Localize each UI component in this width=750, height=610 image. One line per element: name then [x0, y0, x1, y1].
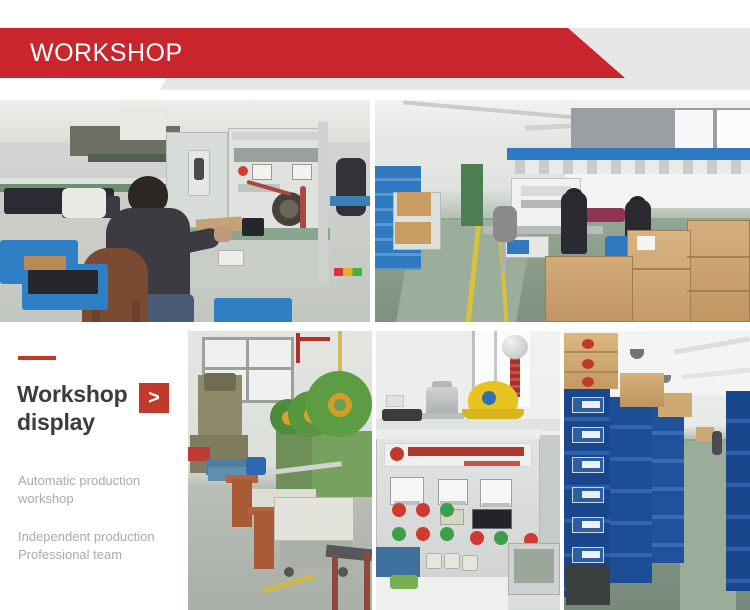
floor-dark-goods — [566, 565, 610, 605]
photo-assembly-line-scene — [375, 100, 750, 322]
bin-label-6 — [582, 551, 600, 558]
blue-parts-bin — [507, 240, 529, 254]
photo-worker-test-bench-scene — [0, 100, 370, 322]
carton-seam-1 — [627, 268, 691, 270]
stool-1 — [232, 479, 252, 527]
panel-gauge-1 — [252, 164, 272, 180]
carton-seam-2 — [564, 371, 618, 373]
right-cabinet — [540, 435, 560, 547]
photo-hv-test-panel-scene — [376, 331, 560, 610]
vertical-rack — [318, 122, 328, 282]
bin-label-2 — [582, 431, 600, 438]
panel-header-strip — [232, 132, 322, 140]
console-maker-text — [464, 461, 520, 466]
console-button-8 — [494, 531, 508, 545]
console-button-1 — [392, 503, 406, 517]
carton-seam-1 — [564, 351, 618, 353]
panel-red-button — [238, 166, 248, 176]
bin-label-3 — [582, 461, 600, 468]
section-heading-line2: display — [17, 409, 95, 435]
console-button-4 — [392, 527, 406, 541]
crate-contents — [28, 270, 98, 294]
white-bag — [62, 188, 106, 218]
cart-wheel-1 — [284, 567, 294, 577]
photo-punch-presses[interactable] — [188, 331, 372, 610]
section-heading-line1: Workshop — [17, 381, 127, 407]
yellow-pipe — [338, 331, 342, 375]
workshop-page: WORKSHOP — [0, 0, 750, 610]
console-button-2 — [416, 503, 430, 517]
carton-seam-3 — [687, 290, 750, 292]
red-post-2 — [364, 551, 370, 610]
console-button-5 — [416, 527, 430, 541]
photo-worker-test-bench[interactable] — [0, 100, 370, 322]
background-bench — [330, 196, 370, 206]
round-cap-3 — [462, 555, 478, 571]
chevron-right-icon[interactable]: > — [139, 383, 169, 413]
right-rack — [726, 391, 750, 591]
window-mullion-h — [202, 367, 294, 370]
red-pipe-horizontal — [296, 337, 330, 341]
carton-logo-1 — [582, 339, 594, 349]
far-worker — [712, 431, 722, 455]
red-cable-b — [300, 186, 306, 230]
black-tool — [382, 409, 422, 421]
wall-paper — [120, 106, 166, 140]
white-workbench-shelf — [565, 174, 750, 208]
safety-helmet-logo — [482, 391, 496, 405]
page-banner: WORKSHOP — [0, 0, 750, 100]
cart-box-2 — [395, 222, 431, 244]
flywheel-c-center — [334, 399, 346, 411]
cart-box-1 — [397, 192, 431, 216]
stool-2 — [254, 511, 274, 569]
workshop-text-block — [0, 331, 188, 610]
page-title: WORKSHOP — [30, 38, 183, 69]
photo-punch-presses-scene — [188, 331, 372, 610]
round-cap-2 — [444, 553, 460, 569]
rack-column-2 — [610, 397, 652, 583]
accent-bar — [18, 356, 56, 360]
wall-socket — [386, 395, 404, 407]
panel-gauge-2 — [292, 164, 312, 180]
carton-stack-2 — [620, 373, 664, 407]
press-body-a — [276, 431, 312, 493]
instrument-case-interior — [514, 549, 554, 583]
safety-helmet-brim — [462, 409, 524, 419]
status-leds — [334, 268, 362, 276]
chair-leg-right — [132, 300, 140, 322]
press-machine-far-head — [204, 373, 236, 391]
green-object — [390, 575, 418, 589]
red-post-1 — [332, 555, 338, 610]
black-component — [242, 218, 264, 236]
photo-hv-test-panel[interactable] — [376, 331, 560, 610]
bin-label-5 — [582, 521, 600, 528]
console-model-text — [408, 447, 524, 456]
carton-seam-2 — [687, 256, 750, 258]
panel-switch-row — [234, 148, 320, 162]
worker-seated-far — [493, 206, 517, 242]
motor-base — [420, 413, 464, 419]
control-console-top-edge — [376, 429, 540, 439]
bin-label-4 — [582, 491, 600, 498]
caption-automatic-production: Automatic production workshop — [18, 472, 178, 508]
open-carton-front — [545, 256, 633, 322]
hv-sphere-electrode — [502, 335, 528, 359]
worker-1 — [561, 192, 587, 254]
console-button-6 — [440, 527, 454, 541]
worker-hand — [214, 226, 232, 242]
digital-meter — [472, 509, 512, 529]
gauge-3-label — [482, 503, 510, 507]
round-cap-1 — [426, 553, 442, 569]
parts-tub-front — [274, 497, 354, 541]
blue-crate-3 — [214, 298, 292, 322]
power-socket — [218, 250, 244, 266]
wood-plank — [24, 256, 66, 270]
overhead-light-row — [515, 160, 750, 174]
blue-overhead-beam — [507, 148, 750, 160]
red-goods-pile — [581, 208, 625, 222]
console-button-7 — [470, 531, 484, 545]
photo-warehouse-racks[interactable] — [564, 331, 750, 610]
photo-assembly-line[interactable] — [375, 100, 750, 322]
cabinet-knob — [194, 158, 204, 180]
cart-wheel-2 — [338, 567, 348, 577]
bin-label-1 — [582, 401, 600, 408]
blue-barrel — [246, 457, 266, 475]
rack-column-3 — [652, 407, 684, 563]
carton-logo-2 — [582, 359, 594, 369]
caption-independent-production: Independent production Professional team — [18, 528, 183, 564]
window-mullion-v — [246, 337, 249, 403]
carton-logo-3 — [582, 377, 594, 387]
green-machine — [461, 164, 483, 226]
console-button-3 — [440, 503, 454, 517]
brand-logo-icon — [390, 447, 404, 461]
carton-stack-right — [687, 220, 750, 322]
background-worker — [336, 158, 366, 216]
photo-warehouse-racks-scene — [564, 331, 750, 610]
carton-label — [637, 236, 655, 250]
